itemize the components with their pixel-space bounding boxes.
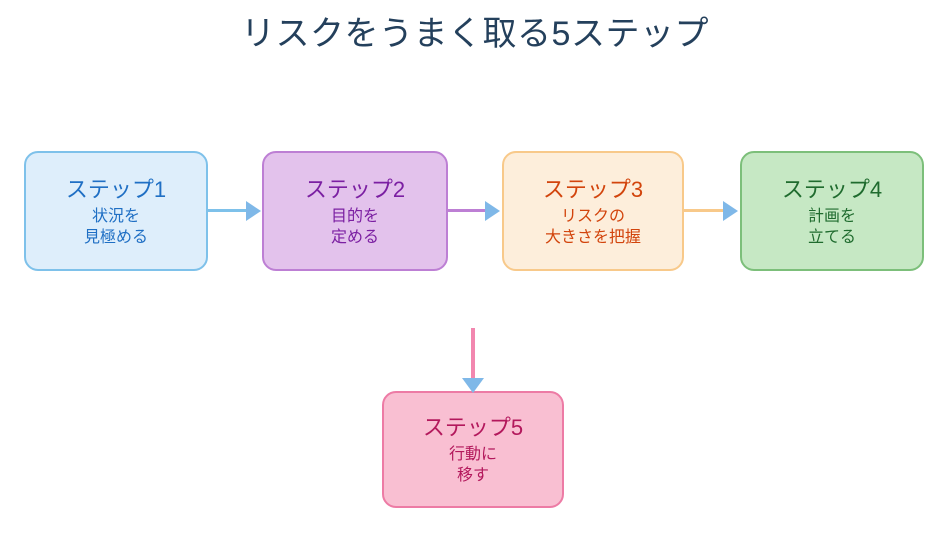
step-3-description-line-2: 大きさを把握	[545, 227, 641, 248]
connector-line	[471, 328, 475, 384]
step-box-4[interactable]: ステップ4 計画を 立てる	[740, 151, 924, 271]
connector-line	[208, 209, 248, 212]
step-5-description-line-2: 移す	[449, 465, 497, 486]
arrow-right-icon	[723, 201, 738, 221]
connector-line	[448, 209, 486, 212]
step-box-5[interactable]: ステップ5 行動に 移す	[382, 391, 564, 508]
step-4-description-line-2: 立てる	[808, 227, 856, 248]
diagram-canvas: リスクをうまく取る5ステップ ステップ1 状況を 見極める ステップ2 目的を …	[0, 0, 950, 550]
arrow-right-icon	[485, 201, 500, 221]
step-box-2[interactable]: ステップ2 目的を 定める	[262, 151, 448, 271]
step-box-1[interactable]: ステップ1 状況を 見極める	[24, 151, 208, 271]
step-3-description: リスクの 大きさを把握	[545, 206, 641, 248]
step-box-3[interactable]: ステップ3 リスクの 大きさを把握	[502, 151, 684, 271]
step-1-heading: ステップ1	[66, 175, 166, 205]
step-3-description-line-1: リスクの	[545, 206, 641, 227]
step-4-description-line-1: 計画を	[808, 206, 856, 227]
step-1-description-line-1: 状況を	[84, 206, 148, 227]
step-5-description: 行動に 移す	[449, 444, 497, 486]
step-4-description: 計画を 立てる	[808, 206, 856, 248]
step-2-description-line-2: 定める	[331, 227, 379, 248]
arrow-right-icon	[246, 201, 261, 221]
step-2-description-line-1: 目的を	[331, 206, 379, 227]
step-2-heading: ステップ2	[305, 175, 405, 205]
step-3-heading: ステップ3	[543, 175, 643, 205]
arrow-down-icon	[462, 378, 484, 393]
step-5-description-line-1: 行動に	[449, 444, 497, 465]
page-title: リスクをうまく取る5ステップ	[0, 12, 950, 56]
step-4-heading: ステップ4	[782, 175, 882, 205]
connector-line	[684, 209, 724, 212]
step-2-description: 目的を 定める	[331, 206, 379, 248]
step-1-description-line-2: 見極める	[84, 227, 148, 248]
step-5-heading: ステップ5	[423, 413, 523, 443]
step-1-description: 状況を 見極める	[84, 206, 148, 248]
